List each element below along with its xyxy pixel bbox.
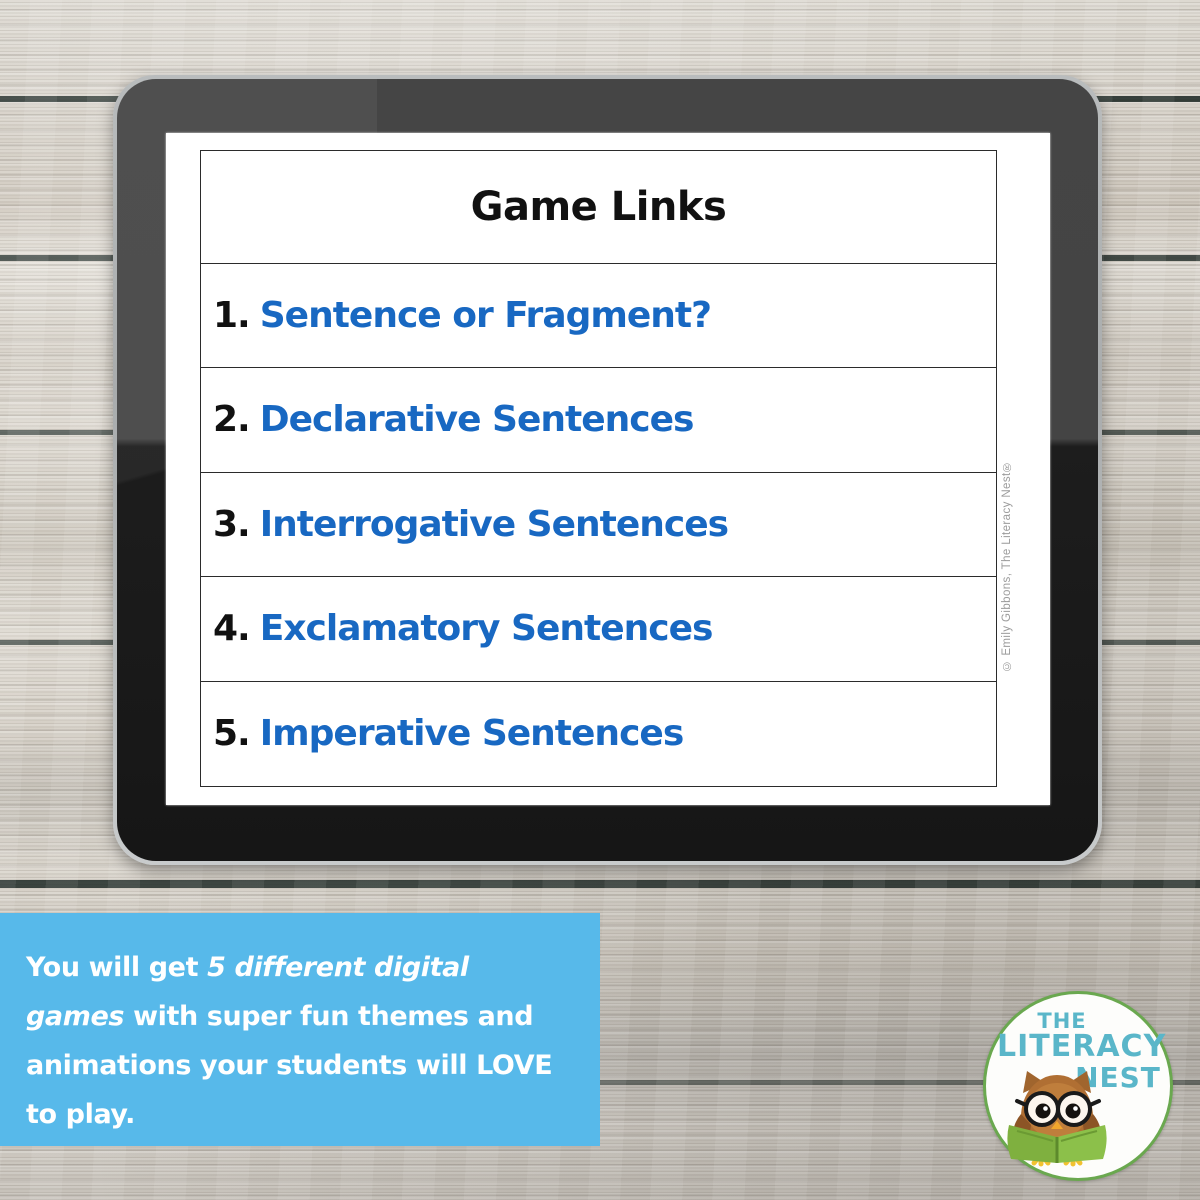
caption-segment-1: You will get: [26, 952, 207, 983]
table-row[interactable]: 4. Exclamatory Sentences: [201, 577, 996, 681]
game-link-exclamatory-sentences[interactable]: Exclamatory Sentences: [260, 608, 713, 649]
row-number: 5.: [213, 713, 250, 754]
game-links-table: Game Links 1. Sentence or Fragment? 2. D…: [200, 150, 997, 787]
row-number: 3.: [213, 504, 250, 545]
game-link-sentence-or-fragment[interactable]: Sentence or Fragment?: [260, 295, 711, 336]
table-row[interactable]: 2. Declarative Sentences: [201, 368, 996, 472]
row-number: 4.: [213, 608, 250, 649]
row-number: 1.: [213, 295, 250, 336]
copyright-notice: © Emily Gibbons, The Literacy Nest®: [1001, 460, 1013, 672]
caption-text: You will get 5 different digital games w…: [26, 943, 560, 1139]
brand-logo: THE LITERACY NEST: [975, 985, 1175, 1185]
caption-box: You will get 5 different digital games w…: [0, 913, 600, 1146]
row-number: 2.: [213, 399, 250, 440]
table-row[interactable]: 3. Interrogative Sentences: [201, 473, 996, 577]
table-header-row: Game Links: [201, 151, 996, 264]
game-link-interrogative-sentences[interactable]: Interrogative Sentences: [260, 504, 728, 545]
table-row[interactable]: 5. Imperative Sentences: [201, 682, 996, 786]
table-row[interactable]: 1. Sentence or Fragment?: [201, 264, 996, 368]
owl-reading-book-icon: [997, 1059, 1117, 1169]
page-title: Game Links: [471, 184, 727, 230]
game-link-declarative-sentences[interactable]: Declarative Sentences: [260, 399, 694, 440]
game-link-imperative-sentences[interactable]: Imperative Sentences: [260, 713, 684, 754]
